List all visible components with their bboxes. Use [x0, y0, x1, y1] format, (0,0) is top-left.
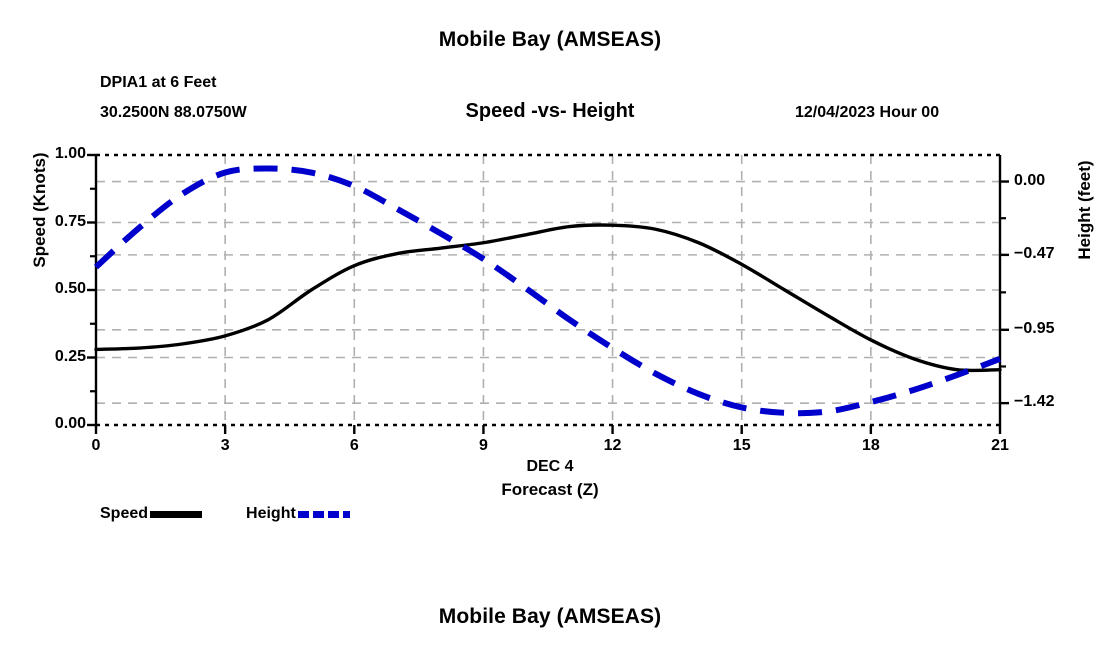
legend-item-speed: Speed	[100, 505, 202, 523]
legend-swatch-height-icon	[298, 511, 350, 518]
legend-label-speed: Speed	[100, 505, 148, 523]
chart-page: Mobile Bay (AMSEAS) DPIA1 at 6 Feet 30.2…	[0, 0, 1100, 650]
x-axis-tick-label: 15	[722, 437, 762, 455]
x-axis-tick-label: 3	[205, 437, 245, 455]
x-axis-tick-label: 12	[593, 437, 633, 455]
x-axis-tick-label: 18	[851, 437, 891, 455]
legend-swatch-speed-icon	[150, 511, 202, 518]
x-axis-tick-label: 21	[980, 437, 1020, 455]
chart-legend: Speed Height	[100, 505, 350, 523]
x-axis-ticks: 036912151821	[0, 0, 1100, 650]
footer-title: Mobile Bay (AMSEAS)	[0, 605, 1100, 629]
legend-item-height: Height	[246, 505, 350, 523]
legend-label-height: Height	[246, 505, 296, 523]
x-axis-tick-label: 0	[76, 437, 116, 455]
x-axis-tick-label: 6	[334, 437, 374, 455]
x-axis-tick-label: 9	[463, 437, 503, 455]
